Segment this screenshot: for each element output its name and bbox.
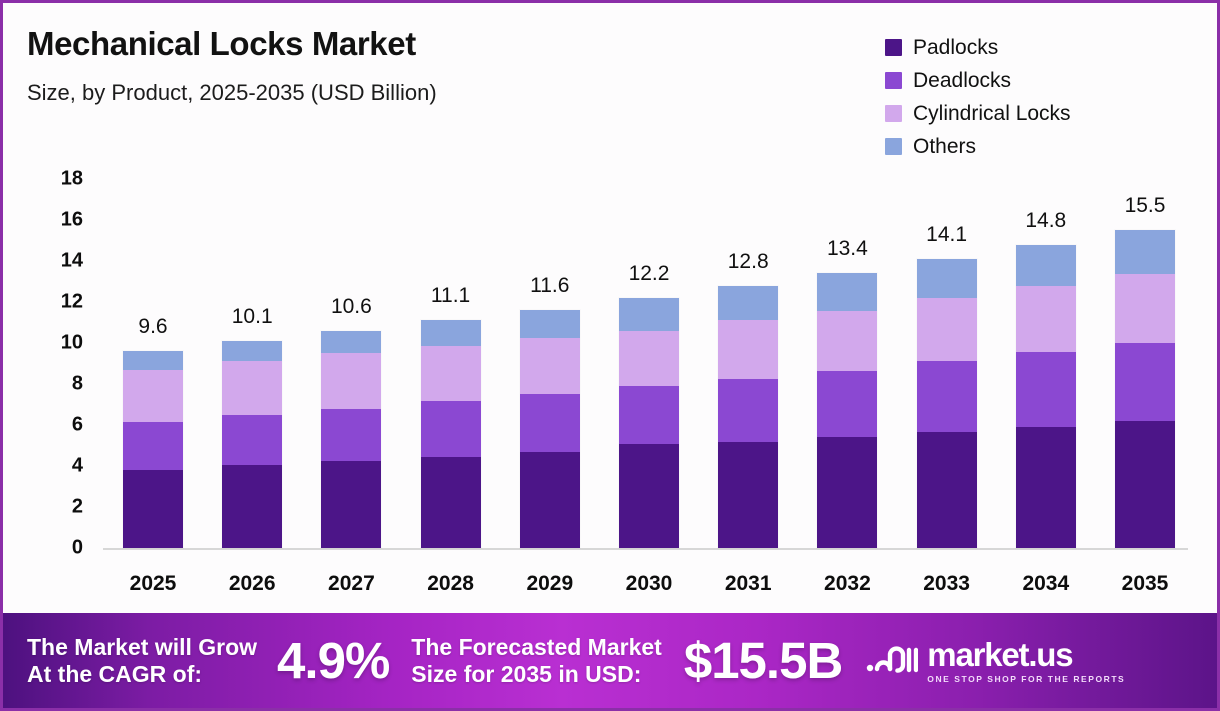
- y-axis-tick-label: 14: [41, 250, 83, 273]
- bar-stack[interactable]: [917, 259, 977, 548]
- brand-logo: market.us ONE STOP SHOP FOR THE REPORTS: [866, 638, 1125, 684]
- bar-stack[interactable]: [321, 331, 381, 548]
- legend-item-label: Cylindrical Locks: [913, 102, 1071, 126]
- bar-stack[interactable]: [222, 341, 282, 548]
- bar-stack[interactable]: [123, 351, 183, 548]
- forecast-size-label: The Forecasted Market Size for 2035 in U…: [411, 634, 662, 687]
- x-axis-tick-label: 2026: [206, 572, 298, 596]
- chart-subtitle: Size, by Product, 2025-2035 (USD Billion…: [27, 80, 437, 106]
- footer-banner: The Market will Grow At the CAGR of: 4.9…: [3, 613, 1217, 708]
- bar-segment[interactable]: [718, 320, 778, 378]
- forecast-size-value: $15.5B: [684, 631, 842, 690]
- bar-segment[interactable]: [421, 346, 481, 401]
- bar-segment[interactable]: [520, 452, 580, 548]
- bar-segment[interactable]: [619, 331, 679, 386]
- bar-total-label: 12.2: [604, 262, 694, 286]
- legend-swatch-icon: [885, 39, 902, 56]
- cagr-value: 4.9%: [277, 631, 389, 690]
- y-axis-tick-label: 10: [41, 332, 83, 355]
- legend-item-label: Others: [913, 135, 976, 159]
- bar-segment[interactable]: [222, 415, 282, 465]
- cagr-label: The Market will Grow At the CAGR of:: [27, 634, 257, 687]
- bar-segment[interactable]: [321, 353, 381, 408]
- bar-total-label: 12.8: [703, 250, 793, 274]
- chart-legend: PadlocksDeadlocksCylindrical LocksOthers: [885, 31, 1071, 163]
- legend-swatch-icon: [885, 105, 902, 122]
- bar-segment[interactable]: [917, 259, 977, 298]
- bar-total-label: 15.5: [1100, 194, 1190, 218]
- x-axis-tick-label: 2033: [901, 572, 993, 596]
- bar-segment[interactable]: [421, 457, 481, 548]
- legend-swatch-icon: [885, 72, 902, 89]
- y-axis-tick-label: 12: [41, 291, 83, 314]
- bar-segment[interactable]: [520, 394, 580, 451]
- bar-segment[interactable]: [123, 470, 183, 548]
- bar-segment[interactable]: [421, 320, 481, 346]
- bar-segment[interactable]: [1016, 352, 1076, 427]
- bar-segment[interactable]: [917, 432, 977, 548]
- bar-stack[interactable]: [718, 286, 778, 548]
- bar-segment[interactable]: [421, 401, 481, 456]
- x-axis-tick-label: 2027: [305, 572, 397, 596]
- legend-swatch-icon: [885, 138, 902, 155]
- bar-segment[interactable]: [1115, 274, 1175, 343]
- bar-segment[interactable]: [917, 361, 977, 432]
- bar-segment[interactable]: [917, 298, 977, 362]
- bar-segment[interactable]: [1016, 427, 1076, 548]
- legend-item[interactable]: Cylindrical Locks: [885, 97, 1071, 130]
- y-axis-tick-label: 2: [41, 496, 83, 519]
- x-axis-tick-label: 2030: [603, 572, 695, 596]
- bar-total-label: 11.6: [505, 274, 595, 298]
- x-axis-tick-label: 2035: [1099, 572, 1191, 596]
- bar-stack[interactable]: [817, 273, 877, 548]
- bar-total-label: 14.1: [902, 223, 992, 247]
- y-axis-tick-label: 8: [41, 373, 83, 396]
- bar-segment[interactable]: [520, 338, 580, 394]
- y-axis-tick-label: 4: [41, 455, 83, 478]
- bar-total-label: 10.6: [306, 295, 396, 319]
- bar-segment[interactable]: [1115, 421, 1175, 548]
- bar-segment[interactable]: [1016, 286, 1076, 353]
- market-us-logo-icon: [866, 641, 918, 680]
- legend-item[interactable]: Deadlocks: [885, 64, 1071, 97]
- x-axis-line: [103, 548, 1188, 550]
- bar-stack[interactable]: [1016, 245, 1076, 548]
- bar-segment[interactable]: [817, 371, 877, 438]
- bar-segment[interactable]: [718, 286, 778, 321]
- x-axis-tick-label: 2031: [702, 572, 794, 596]
- bar-segment[interactable]: [321, 331, 381, 354]
- y-axis-tick-label: 16: [41, 209, 83, 232]
- bar-segment[interactable]: [619, 298, 679, 331]
- bar-segment[interactable]: [718, 379, 778, 443]
- x-axis-tick-label: 2028: [405, 572, 497, 596]
- legend-item-label: Padlocks: [913, 36, 998, 60]
- bar-stack[interactable]: [421, 320, 481, 548]
- bar-total-label: 14.8: [1001, 209, 1091, 233]
- bar-stack[interactable]: [1115, 230, 1175, 548]
- bar-segment[interactable]: [123, 422, 183, 470]
- bar-segment[interactable]: [619, 386, 679, 444]
- bar-segment[interactable]: [718, 442, 778, 548]
- bar-total-label: 9.6: [108, 315, 198, 339]
- x-axis-tick-label: 2029: [504, 572, 596, 596]
- bar-segment[interactable]: [817, 311, 877, 370]
- brand-tagline: ONE STOP SHOP FOR THE REPORTS: [927, 674, 1125, 684]
- bar-segment[interactable]: [817, 273, 877, 311]
- bar-segment[interactable]: [1115, 230, 1175, 274]
- legend-item-label: Deadlocks: [913, 69, 1011, 93]
- bar-segment[interactable]: [619, 444, 679, 548]
- bar-segment[interactable]: [817, 437, 877, 548]
- legend-item[interactable]: Padlocks: [885, 31, 1071, 64]
- bar-segment[interactable]: [1016, 245, 1076, 286]
- bar-segment[interactable]: [222, 465, 282, 548]
- x-axis-tick-label: 2025: [107, 572, 199, 596]
- brand-name: market.us: [927, 638, 1125, 671]
- bar-segment[interactable]: [321, 409, 381, 461]
- chart-card: Mechanical Locks Market Size, by Product…: [0, 0, 1220, 711]
- y-axis-tick-label: 6: [41, 414, 83, 437]
- bar-segment[interactable]: [1115, 343, 1175, 421]
- bar-total-label: 10.1: [207, 305, 297, 329]
- y-axis-tick-label: 18: [41, 168, 83, 191]
- x-axis-tick-label: 2034: [1000, 572, 1092, 596]
- bar-segment[interactable]: [222, 361, 282, 414]
- bar-total-label: 13.4: [802, 237, 892, 261]
- y-axis-tick-label: 0: [41, 537, 83, 560]
- bar-stack[interactable]: [619, 298, 679, 548]
- legend-item[interactable]: Others: [885, 130, 1071, 163]
- bar-total-label: 11.1: [406, 284, 496, 308]
- bar-segment[interactable]: [321, 461, 381, 548]
- bar-segment[interactable]: [123, 351, 183, 369]
- page-title: Mechanical Locks Market: [27, 25, 416, 63]
- x-axis-tick-label: 2032: [801, 572, 893, 596]
- bar-segment[interactable]: [123, 370, 183, 422]
- bar-segment[interactable]: [222, 341, 282, 362]
- bar-segment[interactable]: [520, 310, 580, 338]
- bar-stack[interactable]: [520, 310, 580, 548]
